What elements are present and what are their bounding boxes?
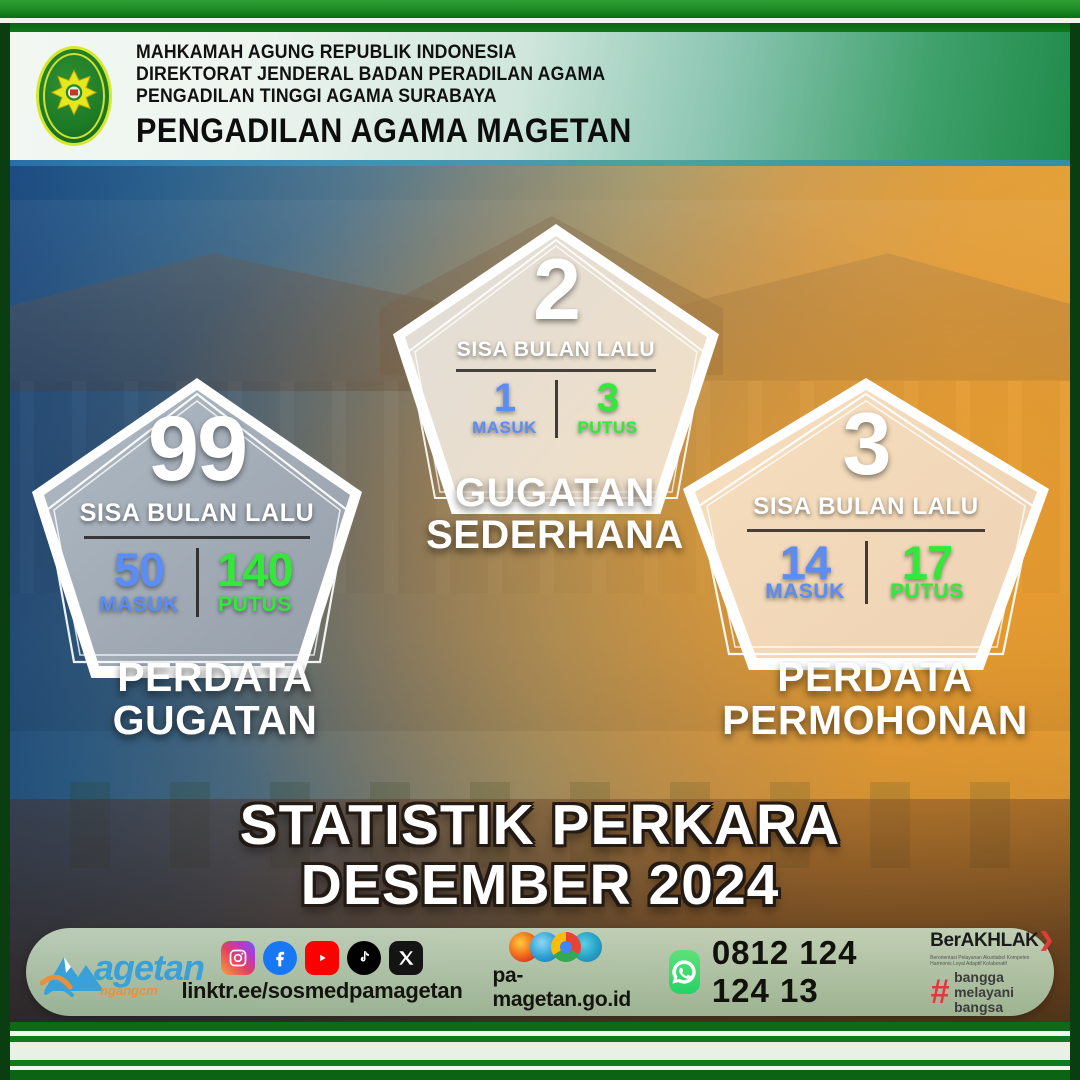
website-text[interactable]: pa-magetan.go.id	[493, 964, 631, 1012]
chrome-icon	[551, 932, 581, 962]
masuk-label: MASUK	[99, 593, 179, 617]
social-icons-group	[221, 941, 423, 975]
category-line-1: PERDATA	[45, 656, 385, 699]
putus-value: 140	[217, 548, 292, 591]
putus-label: PUTUS	[577, 418, 637, 438]
putus-value: 3	[597, 380, 618, 417]
x-icon[interactable]	[389, 941, 423, 975]
berakhlak-subtitle: Berorientasi Pelayanan Akuntabel Kompete…	[930, 955, 1050, 967]
logo-star-icon	[50, 68, 98, 121]
bangga-line-2: melayani	[954, 985, 1014, 1000]
poster-title-line-2: DESEMBER 2024	[0, 855, 1080, 915]
category-line-2: PERMOHONAN	[700, 699, 1050, 742]
poster-title: STATISTIK PERKARA DESEMBER 2024	[0, 795, 1080, 915]
putus-value: 17	[902, 541, 952, 584]
poster-root: MAHKAMAH AGUNG REPUBLIK INDONESIA DIREKT…	[0, 0, 1080, 1080]
category-line-1: PERDATA	[700, 656, 1050, 699]
court-logo	[28, 44, 120, 148]
tiktok-icon[interactable]	[347, 941, 381, 975]
sisa-label: SISA BULAN LALU	[80, 499, 314, 528]
masuk-value: 1	[494, 380, 515, 417]
header-line-2: DIREKTORAT JENDERAL BADAN PERADILAN AGAM…	[136, 64, 648, 86]
pentagon-perdata-gugatan: 99 SISA BULAN LALU 50 MASUK 140 PUTUS	[32, 378, 362, 678]
masuk-label: MASUK	[472, 418, 537, 438]
category-label-gugatan-sederhana: GUGATAN SEDERHANA	[380, 472, 730, 557]
category-line-2: SEDERHANA	[380, 514, 730, 556]
masuk-value: 14	[780, 541, 830, 584]
sisa-value: 3	[843, 402, 890, 486]
magetan-tourism-logo: agetan ngangcm	[40, 937, 175, 1007]
bottom-green-stripes	[0, 1022, 1080, 1080]
divider-horizontal	[84, 536, 310, 539]
sisa-label: SISA BULAN LALU	[457, 338, 655, 362]
magetan-tagline: ngangcm	[100, 983, 158, 998]
putus-label: PUTUS	[890, 580, 964, 604]
divider-horizontal	[747, 529, 985, 532]
category-line-2: GUGATAN	[45, 699, 385, 742]
youtube-icon[interactable]	[305, 941, 339, 975]
linktree-text[interactable]: linktr.ee/sosmedpamagetan	[181, 978, 462, 1004]
berakhlak-logo: BerAKHLAK❯ Berorientasi Pelayanan Akunta…	[930, 929, 1054, 1015]
berakhlak-wordmark: BerAKHLAK❯	[930, 929, 1054, 952]
poster-title-line-1: STATISTIK PERKARA	[0, 795, 1080, 855]
berakhlak-tick-icon: ❯	[1038, 930, 1054, 951]
hash-icon: #	[930, 979, 949, 1006]
pentagon-perdata-permohonan: 3 SISA BULAN LALU 14 MASUK 17 PUTUS	[683, 378, 1049, 670]
header-line-3: PENGADILAN TINGGI AGAMA SURABAYA	[136, 86, 648, 108]
putus-label: PUTUS	[218, 593, 292, 617]
category-label-perdata-permohonan: PERDATA PERMOHONAN	[700, 656, 1050, 743]
divider-horizontal	[456, 369, 656, 372]
bangga-line-1: bangga	[954, 970, 1014, 985]
sisa-value: 2	[533, 250, 579, 332]
bangga-line-3: bangsa	[954, 1000, 1014, 1015]
top-green-band-2	[0, 23, 1080, 32]
footer-bar: agetan ngangcm	[26, 928, 1054, 1016]
top-green-band	[0, 0, 1080, 18]
header-title: PENGADILAN AGAMA MAGETAN	[136, 111, 632, 151]
masuk-value: 50	[114, 548, 164, 591]
sisa-label: SISA BULAN LALU	[753, 493, 978, 521]
sisa-value: 99	[148, 406, 246, 493]
bangga-melayani-bangsa-logo: # bangga melayani bangsa	[930, 970, 1014, 1015]
whatsapp-icon[interactable]	[669, 950, 700, 994]
instagram-icon[interactable]	[221, 941, 255, 975]
browser-icons-group	[518, 932, 602, 962]
header-accent-line	[10, 160, 1070, 166]
berakhlak-text: BerAKHLAK	[930, 930, 1038, 951]
masuk-label: MASUK	[765, 580, 845, 604]
whatsapp-number: 0812 124 124 13	[712, 934, 896, 1010]
category-label-perdata-gugatan: PERDATA GUGATAN	[45, 656, 385, 743]
right-rail	[1070, 23, 1080, 1080]
left-rail	[0, 23, 10, 1080]
header-bar: MAHKAMAH AGUNG REPUBLIK INDONESIA DIREKT…	[10, 32, 1070, 160]
header-line-1: MAHKAMAH AGUNG REPUBLIK INDONESIA	[136, 42, 648, 64]
facebook-icon[interactable]	[263, 941, 297, 975]
category-line-1: GUGATAN	[380, 472, 730, 514]
